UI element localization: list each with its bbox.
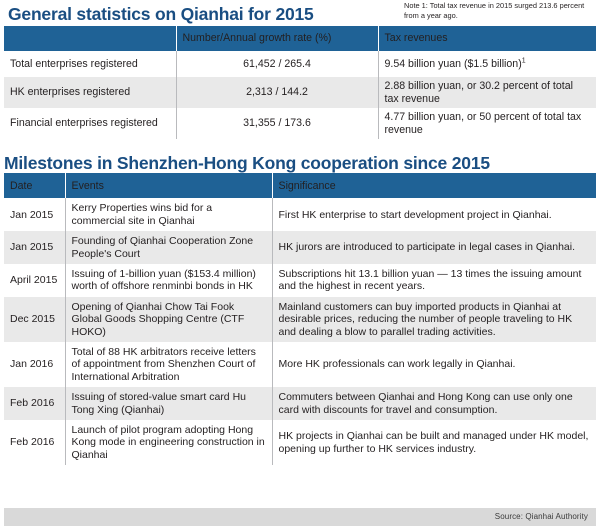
table-row: Feb 2016 Launch of pilot program adoptin… xyxy=(4,420,596,465)
table2-row4-significance: More HK professionals can work legally i… xyxy=(272,342,596,387)
table2-row2-date: April 2015 xyxy=(4,264,65,297)
table1-col-number: Number/Annual growth rate (%) xyxy=(176,26,378,51)
table1-header-row: Number/Annual growth rate (%) Tax revenu… xyxy=(4,26,596,51)
table2-row0-date: Jan 2015 xyxy=(4,198,65,231)
table2-header-row: Date Events Significance xyxy=(4,173,596,198)
table1-row0-number: 61,452 / 265.4 xyxy=(176,51,378,77)
table2-row1-date: Jan 2015 xyxy=(4,231,65,264)
table2-row5-date: Feb 2016 xyxy=(4,387,65,420)
table1-row0-label: Total enterprises registered xyxy=(4,51,176,77)
source-credit: Source: Qianhai Authority xyxy=(495,512,588,521)
table-row: HK enterprises registered 2,313 / 144.2 … xyxy=(4,77,596,108)
table-row: April 2015 Issuing of 1-billion yuan ($1… xyxy=(4,264,596,297)
table1-row1-number: 2,313 / 144.2 xyxy=(176,77,378,108)
table2-row2-event: Issuing of 1-billion yuan ($153.4 millio… xyxy=(65,264,272,297)
section2-header: Milestones in Shenzhen-Hong Kong coopera… xyxy=(0,149,600,173)
table2-col-date: Date xyxy=(4,173,65,198)
table-row: Jan 2015 Kerry Properties wins bid for a… xyxy=(4,198,596,231)
table2-row3-date: Dec 2015 xyxy=(4,297,65,342)
table2-row5-significance: Commuters between Qianhai and Hong Kong … xyxy=(272,387,596,420)
table2-col-significance: Significance xyxy=(272,173,596,198)
table1-row2-number: 31,355 / 173.6 xyxy=(176,108,378,139)
table-row: Financial enterprises registered 31,355 … xyxy=(4,108,596,139)
table2-col-events: Events xyxy=(65,173,272,198)
table2-row5-event: Issuing of stored-value smart card Hu To… xyxy=(65,387,272,420)
footnote-marker: 1 xyxy=(522,57,526,64)
source-bar: Source: Qianhai Authority xyxy=(4,508,596,526)
table2-row6-date: Feb 2016 xyxy=(4,420,65,465)
table2-row3-event: Opening of Qianhai Chow Tai Fook Global … xyxy=(65,297,272,342)
table-row: Total enterprises registered 61,452 / 26… xyxy=(4,51,596,77)
table1-row1-tax: 2.88 billion yuan, or 30.2 percent of to… xyxy=(378,77,596,108)
section1-note: Note 1: Total tax revenue in 2015 surged… xyxy=(404,1,596,20)
table-row: Jan 2015 Founding of Qianhai Cooperation… xyxy=(4,231,596,264)
table2-row0-event: Kerry Properties wins bid for a commerci… xyxy=(65,198,272,231)
section2-title: Milestones in Shenzhen-Hong Kong coopera… xyxy=(4,149,600,175)
table2-row6-significance: HK projects in Qianhai can be built and … xyxy=(272,420,596,465)
table1-row0-tax-text: 9.54 billion yuan ($1.5 billion) xyxy=(385,58,522,70)
milestones-table: Date Events Significance Jan 2015 Kerry … xyxy=(4,173,596,465)
table2-row0-significance: First HK enterprise to start development… xyxy=(272,198,596,231)
table1-col-tax: Tax revenues xyxy=(378,26,596,51)
table1-row2-label: Financial enterprises registered xyxy=(4,108,176,139)
infographic-root: General statistics on Qianhai for 2015 N… xyxy=(0,0,600,530)
table2-row3-significance: Mainland customers can buy imported prod… xyxy=(272,297,596,342)
table2-row6-event: Launch of pilot program adopting Hong Ko… xyxy=(65,420,272,465)
table1-row1-label: HK enterprises registered xyxy=(4,77,176,108)
table2-row1-significance: HK jurors are introduced to participate … xyxy=(272,231,596,264)
table1-row2-tax: 4.77 billion yuan, or 50 percent of tota… xyxy=(378,108,596,139)
table2-row4-event: Total of 88 HK arbitrators receive lette… xyxy=(65,342,272,387)
table-row: Jan 2016 Total of 88 HK arbitrators rece… xyxy=(4,342,596,387)
table-row: Feb 2016 Issuing of stored-value smart c… xyxy=(4,387,596,420)
table1-col-label xyxy=(4,26,176,51)
table2-row1-event: Founding of Qianhai Cooperation Zone Peo… xyxy=(65,231,272,264)
general-statistics-table: Number/Annual growth rate (%) Tax revenu… xyxy=(4,26,596,139)
table2-row2-significance: Subscriptions hit 13.1 billion yuan — 13… xyxy=(272,264,596,297)
table2-row4-date: Jan 2016 xyxy=(4,342,65,387)
table-row: Dec 2015 Opening of Qianhai Chow Tai Foo… xyxy=(4,297,596,342)
table1-row0-tax: 9.54 billion yuan ($1.5 billion)1 xyxy=(378,51,596,77)
section1-header: General statistics on Qianhai for 2015 N… xyxy=(0,0,600,26)
